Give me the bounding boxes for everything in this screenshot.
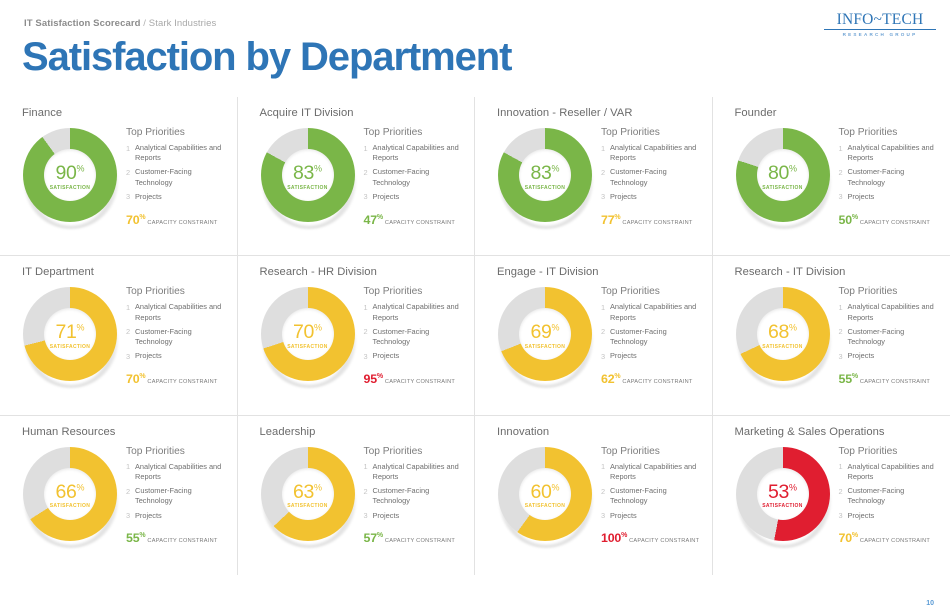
priority-text: Analytical Capabilities and Reports (848, 143, 941, 163)
department-title: Human Resources (22, 426, 227, 438)
satisfaction-caption: SATISFACTION (280, 185, 336, 190)
capacity-constraint-value: 55% (839, 372, 858, 386)
department-title: IT Department (22, 266, 227, 278)
priority-list: 1Analytical Capabilities and Reports2Cus… (839, 143, 941, 203)
top-priorities-heading: Top Priorities (364, 286, 465, 297)
priority-item: 2Customer-Facing Technology (364, 486, 465, 506)
top-priorities-block: Top Priorities 1Analytical Capabilities … (126, 444, 227, 548)
priority-text: Customer-Facing Technology (373, 486, 465, 506)
priority-number: 1 (364, 143, 373, 154)
satisfaction-percent: 68% (755, 323, 811, 343)
department-card-8[interactable]: Research - IT Division 68% SATISFACTION … (713, 256, 950, 415)
capacity-constraint: 50%CAPACITY CONSTRAINT (839, 210, 941, 229)
department-card-3[interactable]: Innovation - Reseller / VAR 83% SATISFAC… (475, 97, 713, 256)
priority-list: 1Analytical Capabilities and Reports2Cus… (839, 302, 941, 362)
priority-list: 1Analytical Capabilities and Reports2Cus… (126, 302, 227, 362)
logo-divider (824, 29, 936, 30)
logo-tagline: RESEARCH GROUP (824, 32, 936, 37)
card-body: 53% SATISFACTION Top Priorities 1Analyti… (735, 444, 941, 548)
priority-item: 3Projects (126, 351, 227, 362)
capacity-constraint-value: 70% (126, 372, 145, 386)
satisfaction-caption: SATISFACTION (517, 504, 573, 509)
department-title: Marketing & Sales Operations (735, 426, 941, 438)
capacity-constraint-label: CAPACITY CONSTRAINT (385, 220, 455, 226)
breadcrumb-company-label: Stark Industries (149, 18, 217, 29)
capacity-constraint: 95%CAPACITY CONSTRAINT (364, 369, 465, 388)
priority-item: 3Projects (601, 351, 702, 362)
priority-number: 1 (126, 462, 135, 473)
capacity-constraint-value: 70% (839, 531, 858, 545)
top-priorities-block: Top Priorities 1Analytical Capabilities … (126, 284, 227, 388)
priority-text: Projects (610, 351, 637, 361)
capacity-constraint-value: 100% (601, 531, 627, 545)
priority-item: 2Customer-Facing Technology (601, 486, 702, 506)
priority-item: 3Projects (364, 511, 465, 522)
capacity-constraint: 70%CAPACITY CONSTRAINT (126, 210, 227, 229)
priority-number: 1 (126, 302, 135, 313)
top-priorities-block: Top Priorities 1Analytical Capabilities … (601, 125, 702, 229)
priority-number: 1 (601, 143, 610, 154)
satisfaction-donut-chart: 66% SATISFACTION (20, 444, 120, 548)
priority-list: 1Analytical Capabilities and Reports2Cus… (126, 462, 227, 522)
priority-list: 1Analytical Capabilities and Reports2Cus… (601, 302, 702, 362)
satisfaction-percent: 70% (280, 323, 336, 343)
priority-item: 2Customer-Facing Technology (601, 167, 702, 187)
priority-item: 1Analytical Capabilities and Reports (601, 462, 702, 482)
satisfaction-donut-chart: 63% SATISFACTION (258, 444, 358, 548)
card-body: 90% SATISFACTION Top Priorities 1Analyti… (22, 125, 227, 229)
priority-text: Customer-Facing Technology (373, 327, 465, 347)
priority-text: Projects (610, 511, 637, 521)
priority-item: 2Customer-Facing Technology (364, 167, 465, 187)
card-body: 66% SATISFACTION Top Priorities 1Analyti… (22, 444, 227, 548)
top-priorities-heading: Top Priorities (126, 286, 227, 297)
info-tech-logo: INFO~TECH RESEARCH GROUP (824, 12, 936, 37)
priority-text: Projects (135, 351, 162, 361)
priority-number: 2 (839, 486, 848, 497)
priority-number: 2 (601, 486, 610, 497)
satisfaction-percent: 71% (42, 323, 98, 343)
priority-number: 3 (364, 351, 373, 362)
donut-center-label: 69% SATISFACTION (517, 323, 573, 350)
priority-item: 3Projects (839, 192, 941, 203)
capacity-constraint-value: 77% (601, 213, 620, 227)
top-priorities-heading: Top Priorities (126, 446, 227, 457)
priority-number: 3 (126, 351, 135, 362)
donut-center-label: 53% SATISFACTION (755, 482, 811, 509)
satisfaction-percent: 66% (42, 482, 98, 502)
department-card-1[interactable]: Finance 90% SATISFACTION Top Priorities … (0, 97, 238, 256)
satisfaction-percent: 63% (280, 482, 336, 502)
donut-center-label: 68% SATISFACTION (755, 323, 811, 350)
capacity-constraint-label: CAPACITY CONSTRAINT (385, 379, 455, 385)
priority-item: 3Projects (839, 351, 941, 362)
department-title: Research - IT Division (735, 266, 941, 278)
card-body: 71% SATISFACTION Top Priorities 1Analyti… (22, 284, 227, 388)
priority-text: Projects (848, 192, 875, 202)
priority-text: Analytical Capabilities and Reports (848, 462, 941, 482)
satisfaction-donut-chart: 83% SATISFACTION (495, 125, 595, 229)
satisfaction-percent: 90% (42, 164, 98, 184)
priority-list: 1Analytical Capabilities and Reports2Cus… (364, 302, 465, 362)
priority-number: 3 (126, 511, 135, 522)
slide-root: IT Satisfaction Scorecard / Stark Indust… (0, 0, 950, 615)
priority-number: 1 (126, 143, 135, 154)
priority-item: 3Projects (839, 511, 941, 522)
priority-item: 2Customer-Facing Technology (601, 327, 702, 347)
card-body: 69% SATISFACTION Top Priorities 1Analyti… (497, 284, 702, 388)
capacity-constraint-value: 95% (364, 372, 383, 386)
priority-item: 2Customer-Facing Technology (126, 486, 227, 506)
priority-list: 1Analytical Capabilities and Reports2Cus… (839, 462, 941, 522)
priority-item: 1Analytical Capabilities and Reports (126, 302, 227, 322)
priority-item: 1Analytical Capabilities and Reports (601, 302, 702, 322)
top-priorities-block: Top Priorities 1Analytical Capabilities … (364, 444, 465, 548)
priority-text: Projects (373, 511, 400, 521)
department-title: Research - HR Division (260, 266, 465, 278)
priority-item: 3Projects (364, 351, 465, 362)
top-priorities-heading: Top Priorities (839, 127, 941, 138)
priority-text: Projects (135, 192, 162, 202)
priority-item: 2Customer-Facing Technology (839, 167, 941, 187)
priority-number: 3 (601, 192, 610, 203)
satisfaction-donut-chart: 68% SATISFACTION (733, 284, 833, 388)
priority-text: Customer-Facing Technology (610, 327, 702, 347)
satisfaction-caption: SATISFACTION (42, 504, 98, 509)
satisfaction-donut-chart: 53% SATISFACTION (733, 444, 833, 548)
priority-number: 2 (126, 327, 135, 338)
priority-text: Customer-Facing Technology (135, 167, 227, 187)
priority-item: 3Projects (126, 511, 227, 522)
satisfaction-percent: 83% (517, 164, 573, 184)
priority-number: 2 (364, 486, 373, 497)
capacity-constraint-label: CAPACITY CONSTRAINT (622, 220, 692, 226)
priority-text: Projects (848, 351, 875, 361)
satisfaction-caption: SATISFACTION (42, 345, 98, 350)
satisfaction-caption: SATISFACTION (280, 504, 336, 509)
priority-text: Analytical Capabilities and Reports (373, 462, 465, 482)
priority-number: 3 (364, 192, 373, 203)
satisfaction-caption: SATISFACTION (280, 345, 336, 350)
priority-number: 3 (364, 511, 373, 522)
donut-center-label: 80% SATISFACTION (755, 164, 811, 191)
department-title: Innovation - Reseller / VAR (497, 107, 702, 119)
top-priorities-block: Top Priorities 1Analytical Capabilities … (601, 284, 702, 388)
department-card-12[interactable]: Marketing & Sales Operations 53% SATISFA… (713, 416, 950, 575)
capacity-constraint: 55%CAPACITY CONSTRAINT (839, 369, 941, 388)
card-body: 60% SATISFACTION Top Priorities 1Analyti… (497, 444, 702, 548)
satisfaction-donut-chart: 83% SATISFACTION (258, 125, 358, 229)
department-title: Finance (22, 107, 227, 119)
capacity-constraint-value: 50% (839, 213, 858, 227)
capacity-constraint-label: CAPACITY CONSTRAINT (860, 220, 930, 226)
priority-item: 3Projects (126, 192, 227, 203)
satisfaction-donut-chart: 69% SATISFACTION (495, 284, 595, 388)
priority-text: Analytical Capabilities and Reports (373, 302, 465, 322)
top-priorities-heading: Top Priorities (601, 446, 702, 457)
satisfaction-caption: SATISFACTION (755, 345, 811, 350)
priority-text: Projects (373, 192, 400, 202)
department-title: Leadership (260, 426, 465, 438)
priority-item: 1Analytical Capabilities and Reports (364, 302, 465, 322)
priority-number: 1 (839, 462, 848, 473)
priority-number: 3 (839, 511, 848, 522)
top-priorities-heading: Top Priorities (364, 446, 465, 457)
priority-number: 2 (126, 486, 135, 497)
priority-number: 3 (601, 511, 610, 522)
capacity-constraint-label: CAPACITY CONSTRAINT (147, 538, 217, 544)
priority-item: 2Customer-Facing Technology (839, 486, 941, 506)
donut-center-label: 60% SATISFACTION (517, 482, 573, 509)
department-title: Acquire IT Division (260, 107, 465, 119)
card-body: 80% SATISFACTION Top Priorities 1Analyti… (735, 125, 941, 229)
top-priorities-heading: Top Priorities (364, 127, 465, 138)
top-priorities-heading: Top Priorities (126, 127, 227, 138)
capacity-constraint-label: CAPACITY CONSTRAINT (860, 538, 930, 544)
capacity-constraint-label: CAPACITY CONSTRAINT (622, 379, 692, 385)
satisfaction-caption: SATISFACTION (755, 185, 811, 190)
priority-text: Analytical Capabilities and Reports (610, 143, 702, 163)
department-card-11[interactable]: Innovation 60% SATISFACTION Top Prioriti… (475, 416, 713, 575)
satisfaction-donut-chart: 80% SATISFACTION (733, 125, 833, 229)
priority-text: Analytical Capabilities and Reports (135, 302, 227, 322)
priority-list: 1Analytical Capabilities and Reports2Cus… (601, 143, 702, 203)
priority-text: Customer-Facing Technology (848, 167, 941, 187)
department-card-5[interactable]: IT Department 71% SATISFACTION Top Prior… (0, 256, 238, 415)
priority-text: Projects (373, 351, 400, 361)
priority-number: 1 (601, 302, 610, 313)
priority-item: 1Analytical Capabilities and Reports (601, 143, 702, 163)
capacity-constraint: 100%CAPACITY CONSTRAINT (601, 528, 702, 547)
donut-center-label: 66% SATISFACTION (42, 482, 98, 509)
top-priorities-block: Top Priorities 1Analytical Capabilities … (601, 444, 702, 548)
top-priorities-block: Top Priorities 1Analytical Capabilities … (839, 284, 941, 388)
priority-item: 3Projects (601, 192, 702, 203)
department-title: Innovation (497, 426, 702, 438)
priority-text: Analytical Capabilities and Reports (135, 462, 227, 482)
donut-center-label: 63% SATISFACTION (280, 482, 336, 509)
priority-number: 2 (126, 167, 135, 178)
department-card-10[interactable]: Leadership 63% SATISFACTION Top Prioriti… (238, 416, 476, 575)
priority-number: 2 (364, 327, 373, 338)
priority-text: Analytical Capabilities and Reports (610, 462, 702, 482)
top-priorities-heading: Top Priorities (601, 286, 702, 297)
satisfaction-percent: 80% (755, 164, 811, 184)
department-card-6[interactable]: Research - HR Division 70% SATISFACTION … (238, 256, 476, 415)
top-priorities-heading: Top Priorities (839, 286, 941, 297)
top-priorities-block: Top Priorities 1Analytical Capabilities … (364, 125, 465, 229)
capacity-constraint-label: CAPACITY CONSTRAINT (860, 379, 930, 385)
priority-text: Customer-Facing Technology (610, 167, 702, 187)
priority-item: 1Analytical Capabilities and Reports (839, 462, 941, 482)
card-body: 83% SATISFACTION Top Priorities 1Analyti… (260, 125, 465, 229)
donut-center-label: 71% SATISFACTION (42, 323, 98, 350)
priority-text: Analytical Capabilities and Reports (373, 143, 465, 163)
top-priorities-heading: Top Priorities (601, 127, 702, 138)
capacity-constraint: 62%CAPACITY CONSTRAINT (601, 369, 702, 388)
logo-wordmark: INFO~TECH (824, 12, 936, 28)
capacity-constraint: 70%CAPACITY CONSTRAINT (126, 369, 227, 388)
department-card-7[interactable]: Engage - IT Division 69% SATISFACTION To… (475, 256, 713, 415)
department-card-2[interactable]: Acquire IT Division 83% SATISFACTION Top… (238, 97, 476, 256)
donut-center-label: 83% SATISFACTION (517, 164, 573, 191)
top-priorities-block: Top Priorities 1Analytical Capabilities … (839, 444, 941, 548)
priority-list: 1Analytical Capabilities and Reports2Cus… (364, 143, 465, 203)
satisfaction-caption: SATISFACTION (755, 504, 811, 509)
priority-number: 2 (364, 167, 373, 178)
priority-number: 2 (839, 167, 848, 178)
priority-number: 1 (839, 143, 848, 154)
capacity-constraint: 77%CAPACITY CONSTRAINT (601, 210, 702, 229)
capacity-constraint-value: 47% (364, 213, 383, 227)
priority-number: 3 (601, 351, 610, 362)
priority-text: Projects (610, 192, 637, 202)
priority-text: Analytical Capabilities and Reports (848, 302, 941, 322)
priority-number: 2 (601, 167, 610, 178)
priority-text: Analytical Capabilities and Reports (610, 302, 702, 322)
priority-item: 2Customer-Facing Technology (839, 327, 941, 347)
priority-item: 3Projects (601, 511, 702, 522)
breadcrumb-separator: / (141, 18, 149, 29)
donut-center-label: 83% SATISFACTION (280, 164, 336, 191)
priority-item: 1Analytical Capabilities and Reports (364, 462, 465, 482)
department-title: Engage - IT Division (497, 266, 702, 278)
satisfaction-donut-chart: 90% SATISFACTION (20, 125, 120, 229)
satisfaction-donut-chart: 70% SATISFACTION (258, 284, 358, 388)
satisfaction-donut-chart: 71% SATISFACTION (20, 284, 120, 388)
donut-center-label: 70% SATISFACTION (280, 323, 336, 350)
top-priorities-block: Top Priorities 1Analytical Capabilities … (126, 125, 227, 229)
priority-item: 1Analytical Capabilities and Reports (126, 143, 227, 163)
priority-item: 2Customer-Facing Technology (126, 327, 227, 347)
page-number: 10 (926, 600, 934, 607)
priority-number: 2 (601, 327, 610, 338)
priority-number: 3 (839, 192, 848, 203)
capacity-constraint: 57%CAPACITY CONSTRAINT (364, 528, 465, 547)
priority-list: 1Analytical Capabilities and Reports2Cus… (364, 462, 465, 522)
priority-item: 2Customer-Facing Technology (126, 167, 227, 187)
satisfaction-caption: SATISFACTION (42, 185, 98, 190)
card-body: 70% SATISFACTION Top Priorities 1Analyti… (260, 284, 465, 388)
capacity-constraint-value: 62% (601, 372, 620, 386)
breadcrumb: IT Satisfaction Scorecard / Stark Indust… (24, 18, 216, 29)
priority-number: 2 (839, 327, 848, 338)
priority-text: Projects (848, 511, 875, 521)
priority-text: Analytical Capabilities and Reports (135, 143, 227, 163)
priority-item: 3Projects (364, 192, 465, 203)
priority-number: 1 (364, 462, 373, 473)
capacity-constraint: 55%CAPACITY CONSTRAINT (126, 528, 227, 547)
capacity-constraint-label: CAPACITY CONSTRAINT (147, 379, 217, 385)
priority-text: Customer-Facing Technology (848, 486, 941, 506)
department-card-9[interactable]: Human Resources 66% SATISFACTION Top Pri… (0, 416, 238, 575)
department-card-grid: Finance 90% SATISFACTION Top Priorities … (0, 97, 950, 575)
capacity-constraint: 47%CAPACITY CONSTRAINT (364, 210, 465, 229)
top-priorities-block: Top Priorities 1Analytical Capabilities … (839, 125, 941, 229)
priority-text: Customer-Facing Technology (135, 327, 227, 347)
card-body: 83% SATISFACTION Top Priorities 1Analyti… (497, 125, 702, 229)
satisfaction-percent: 69% (517, 323, 573, 343)
priority-number: 3 (839, 351, 848, 362)
page-title: Satisfaction by Department (22, 36, 511, 78)
capacity-constraint: 70%CAPACITY CONSTRAINT (839, 528, 941, 547)
capacity-constraint-value: 57% (364, 531, 383, 545)
priority-text: Customer-Facing Technology (373, 167, 465, 187)
capacity-constraint-label: CAPACITY CONSTRAINT (147, 220, 217, 226)
capacity-constraint-value: 70% (126, 213, 145, 227)
priority-number: 1 (839, 302, 848, 313)
priority-number: 3 (126, 192, 135, 203)
priority-number: 1 (601, 462, 610, 473)
priority-item: 1Analytical Capabilities and Reports (126, 462, 227, 482)
satisfaction-donut-chart: 60% SATISFACTION (495, 444, 595, 548)
satisfaction-caption: SATISFACTION (517, 185, 573, 190)
priority-item: 1Analytical Capabilities and Reports (839, 143, 941, 163)
satisfaction-percent: 53% (755, 482, 811, 502)
top-priorities-heading: Top Priorities (839, 446, 941, 457)
priority-item: 1Analytical Capabilities and Reports (364, 143, 465, 163)
capacity-constraint-label: CAPACITY CONSTRAINT (629, 538, 699, 544)
satisfaction-percent: 83% (280, 164, 336, 184)
capacity-constraint-label: CAPACITY CONSTRAINT (385, 538, 455, 544)
capacity-constraint-value: 55% (126, 531, 145, 545)
breadcrumb-scorecard-label: IT Satisfaction Scorecard (24, 18, 141, 29)
priority-text: Customer-Facing Technology (848, 327, 941, 347)
department-title: Founder (735, 107, 941, 119)
department-card-4[interactable]: Founder 80% SATISFACTION Top Priorities … (713, 97, 950, 256)
satisfaction-percent: 60% (517, 482, 573, 502)
card-body: 63% SATISFACTION Top Priorities 1Analyti… (260, 444, 465, 548)
donut-center-label: 90% SATISFACTION (42, 164, 98, 191)
priority-text: Customer-Facing Technology (135, 486, 227, 506)
priority-list: 1Analytical Capabilities and Reports2Cus… (126, 143, 227, 203)
priority-text: Customer-Facing Technology (610, 486, 702, 506)
satisfaction-caption: SATISFACTION (517, 345, 573, 350)
top-priorities-block: Top Priorities 1Analytical Capabilities … (364, 284, 465, 388)
priority-text: Projects (135, 511, 162, 521)
priority-item: 1Analytical Capabilities and Reports (839, 302, 941, 322)
priority-list: 1Analytical Capabilities and Reports2Cus… (601, 462, 702, 522)
card-body: 68% SATISFACTION Top Priorities 1Analyti… (735, 284, 941, 388)
priority-number: 1 (364, 302, 373, 313)
priority-item: 2Customer-Facing Technology (364, 327, 465, 347)
